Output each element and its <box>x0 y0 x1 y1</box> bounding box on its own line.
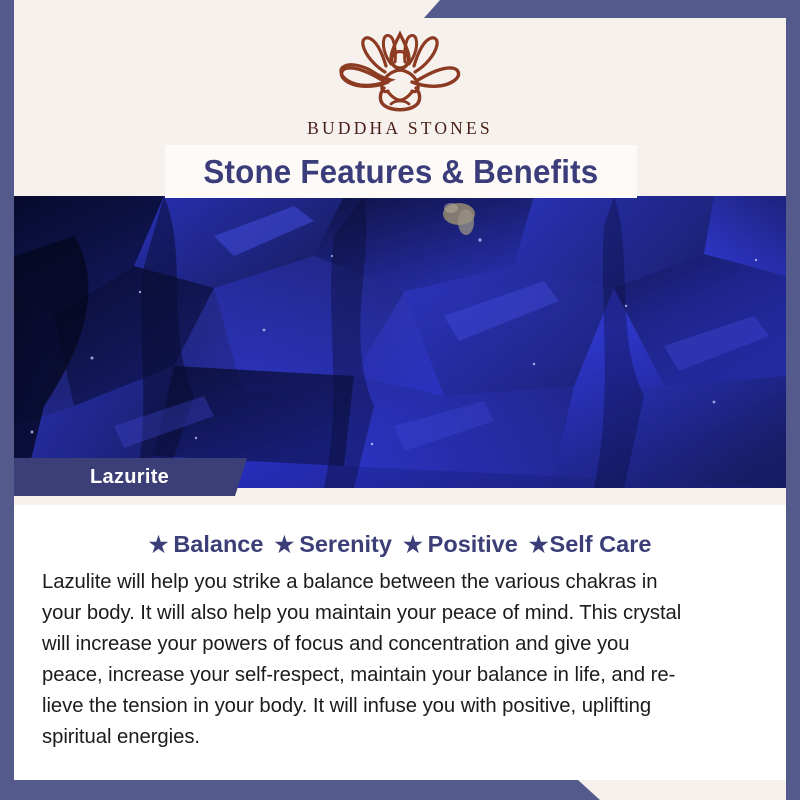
card-page: BUDDHA STONES <box>14 18 786 780</box>
star-icon: ★ <box>149 534 169 556</box>
brand-name: BUDDHA STONES <box>307 118 493 139</box>
stone-description: Lazulite will help you strike a balance … <box>42 567 760 753</box>
infographic-card: BUDDHA STONES <box>0 0 800 800</box>
description-line: will increase your powers of focus and c… <box>42 629 760 660</box>
feature-keyword-balance: ★ Balance <box>149 531 264 558</box>
stone-name-label: Lazurite <box>90 466 169 489</box>
feature-keyword-serenity: ★ Serenity <box>274 531 391 558</box>
frame-right-band <box>786 0 800 800</box>
star-icon: ★ <box>529 534 549 556</box>
feature-keyword-self-care: ★ Self Care <box>529 531 652 558</box>
title-banner: Stone Features & Benefits <box>165 145 637 198</box>
stone-name-ribbon: Lazurite <box>14 458 247 496</box>
content-panel: ★ Balance ★ Serenity ★ Positive ★ Self C… <box>14 505 786 780</box>
frame-bottom-band <box>0 780 800 800</box>
feature-label: Positive <box>428 531 518 558</box>
frame-top-band <box>0 0 800 18</box>
description-line: lieve the tension in your body. It will … <box>42 691 760 722</box>
star-icon: ★ <box>274 534 294 556</box>
stone-photo-graphic <box>14 196 786 488</box>
frame-left-band <box>0 0 14 800</box>
feature-label: Serenity <box>299 531 392 558</box>
description-line: your body. It will also help you maintai… <box>42 598 760 629</box>
feature-label: Self Care <box>550 531 652 558</box>
description-line: peace, increase your self-respect, maint… <box>42 660 760 691</box>
description-line: Lazulite will help you strike a balance … <box>42 567 760 598</box>
feature-keyword-positive: ★ Positive <box>403 531 518 558</box>
star-icon: ★ <box>403 534 423 556</box>
feature-keyword-row: ★ Balance ★ Serenity ★ Positive ★ Self C… <box>38 531 762 558</box>
description-line: spiritual energies. <box>42 722 760 753</box>
page-title: Stone Features & Benefits <box>204 153 599 191</box>
stone-photo <box>14 196 786 488</box>
lotus-meditation-figure-icon <box>325 30 475 116</box>
feature-label: Balance <box>173 531 263 558</box>
